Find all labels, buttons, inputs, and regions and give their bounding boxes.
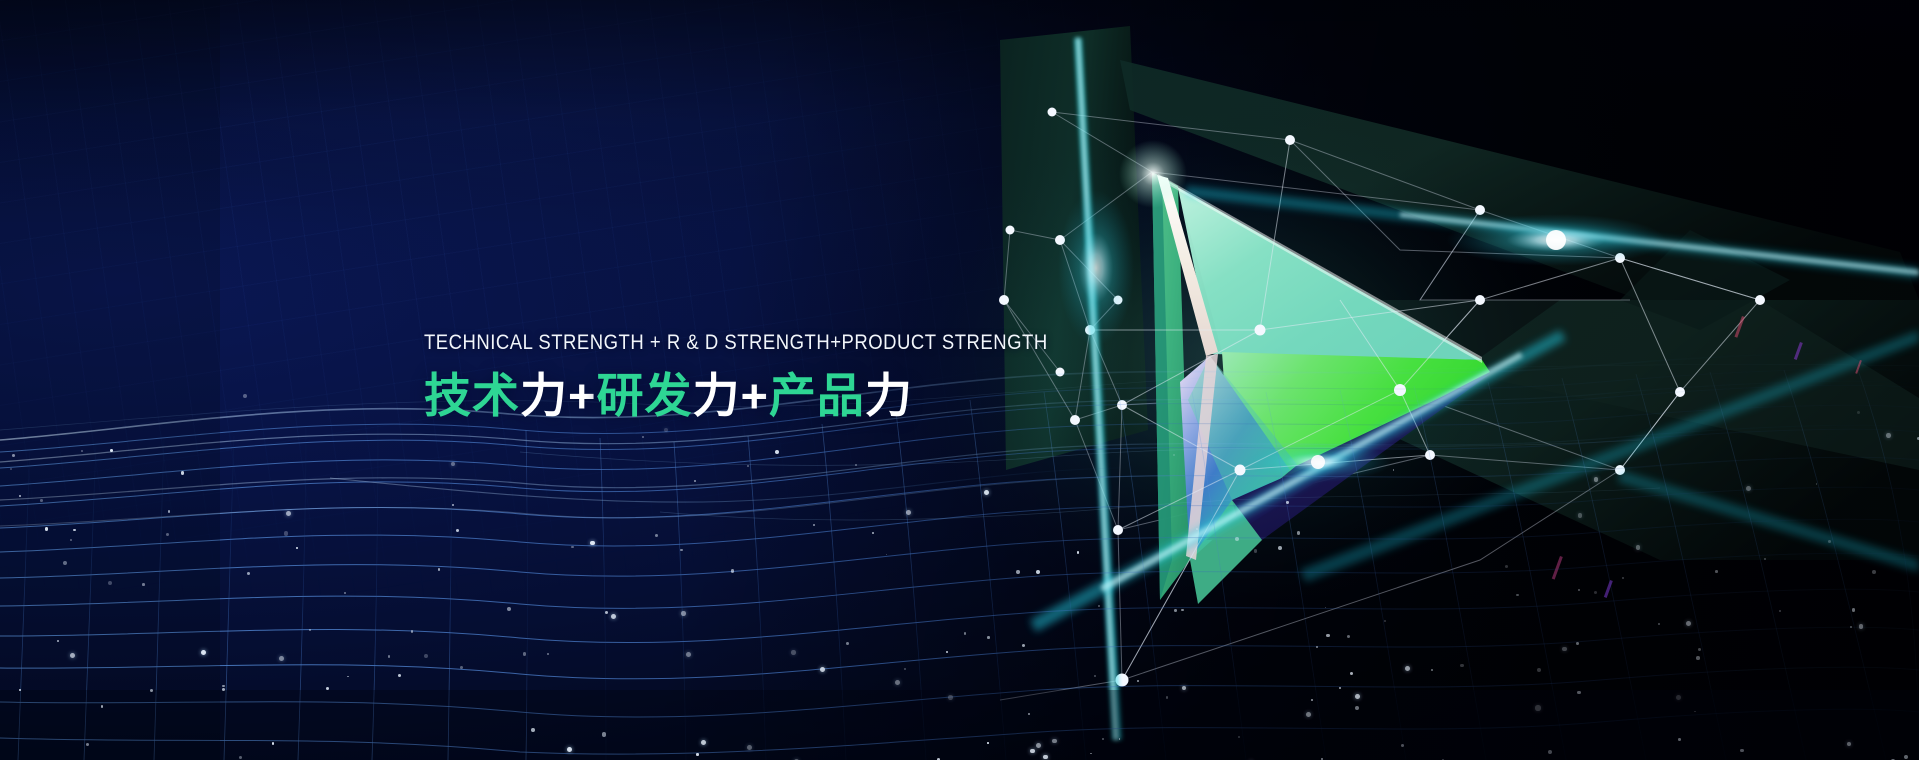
- headline-seg-5: 产品: [769, 369, 865, 422]
- left-vignette: [0, 0, 220, 760]
- lens-flare-core-lower: [1311, 455, 1325, 469]
- tagline-english: TECHNICAL STRENGTH + R & D STRENGTH+PROD…: [424, 332, 992, 354]
- prism-apex-glow: [1119, 140, 1187, 208]
- lens-flare-core-upper: [1546, 230, 1566, 250]
- hero-text-block: TECHNICAL STRENGTH + R & D STRENGTH+PROD…: [424, 332, 1084, 421]
- beam-flare: [1058, 190, 1134, 346]
- headline-seg-1: 技术: [424, 369, 520, 422]
- headline-seg-4: 力+: [692, 369, 768, 422]
- headline-seg-3: 研发: [596, 369, 692, 422]
- headline-seg-2: 力+: [520, 369, 596, 422]
- headline-seg-6: 力: [865, 369, 913, 422]
- hero-banner: TECHNICAL STRENGTH + R & D STRENGTH+PROD…: [0, 0, 1919, 760]
- headline-chinese: 技术力+研发力+产品力: [424, 370, 1084, 422]
- bottom-vignette: [0, 690, 1919, 760]
